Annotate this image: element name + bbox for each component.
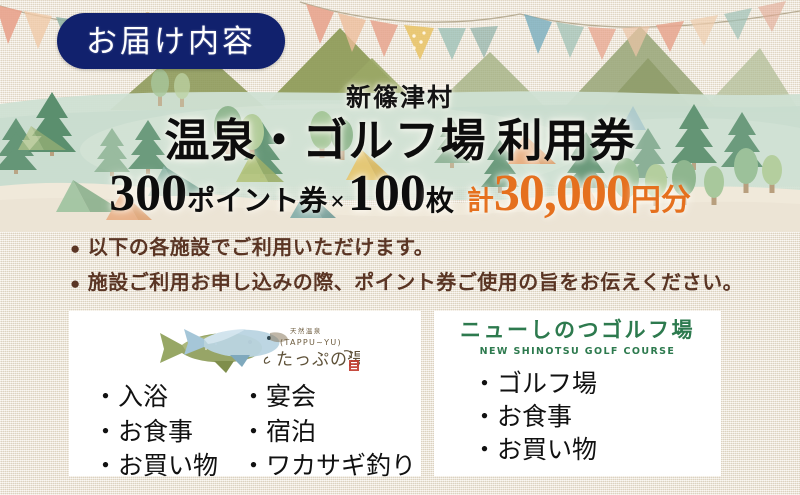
- bullet-icon: ●: [70, 240, 81, 257]
- service-item: ・ワカサギ釣り: [241, 451, 421, 483]
- total-prefix: 計: [467, 186, 494, 216]
- note-item: ● 施設ご利用お申し込みの際、ポイント券ご使用の旨をお伝えください。: [70, 271, 770, 296]
- bullet-icon: ●: [70, 275, 81, 292]
- service-item: ・お食事: [93, 417, 241, 449]
- golf-logo-subtitle: NEW SHINOTSU GOLF COURSE: [434, 346, 721, 357]
- sheets-unit: 枚: [426, 186, 454, 217]
- logo-tagline: 天然温泉: [290, 326, 322, 335]
- service-item: ・宴会: [241, 382, 421, 414]
- title-main: 温泉・ゴルフ場: [164, 116, 486, 166]
- multiply-symbol: ×: [327, 187, 348, 216]
- service-item: ・お買い物: [472, 434, 721, 467]
- note-item: ● 以下の各施設でご利用いただけます。: [70, 236, 770, 261]
- service-item: ・お買い物: [93, 451, 241, 483]
- new-shinotsu-golf-logo: ニューしのつゴルフ場 NEW SHINOTSU GOLF COURSE: [434, 311, 721, 357]
- service-item: ・ゴルフ場: [472, 368, 721, 401]
- village-name: 新篠津村: [0, 86, 800, 111]
- note-text: 施設ご利用お申し込みの際、ポイント券ご使用の旨をお伝えください。: [88, 271, 743, 296]
- pricing-line: 300ポイント券×100枚計30,000円分: [0, 168, 800, 220]
- sheets-value: 100: [348, 165, 426, 222]
- facility-card-onsen: 天然温泉 (TAPPU~YU) たっぷの湯 ・入浴 ・宴会 ・お食事 ・宿泊 ・…: [69, 311, 421, 476]
- coupon-flyer: お届け内容 新篠津村 温泉・ゴルフ場利用券 300ポイント券×100枚計30,0…: [0, 0, 800, 495]
- total-amount: 30,000: [494, 165, 631, 222]
- golf-logo-name: ニューしのつゴルフ場: [434, 319, 721, 342]
- note-text: 以下の各施設でご利用いただけます。: [88, 236, 435, 261]
- badge-label: お届け内容: [86, 26, 256, 57]
- logo-romaji: (TAPPU~YU): [280, 338, 342, 347]
- golf-service-list: ・ゴルフ場 ・お食事 ・お買い物: [434, 368, 721, 467]
- page-title: 温泉・ゴルフ場利用券: [0, 116, 800, 166]
- total-suffix: 円分: [631, 184, 691, 217]
- service-item: ・宿泊: [241, 417, 421, 449]
- points-unit: ポイント券: [187, 186, 327, 217]
- title-sub: 利用券: [498, 116, 636, 166]
- service-item: ・お食事: [472, 401, 721, 434]
- logo-name: たっぷの湯: [276, 350, 360, 370]
- facility-card-golf: ニューしのつゴルフ場 NEW SHINOTSU GOLF COURSE ・ゴルフ…: [434, 311, 721, 476]
- service-item: ・入浴: [93, 382, 241, 414]
- delivery-contents-badge: お届け内容: [57, 13, 285, 69]
- tappu-no-yu-logo: 天然温泉 (TAPPU~YU) たっぷの湯: [69, 315, 421, 375]
- onsen-logo-graphic: 天然温泉 (TAPPU~YU) たっぷの湯: [130, 315, 360, 377]
- onsen-service-list: ・入浴 ・宴会 ・お食事 ・宿泊 ・お買い物 ・ワカサギ釣り: [69, 382, 421, 483]
- points-value: 300: [109, 165, 187, 222]
- usage-notes: ● 以下の各施設でご利用いただけます。 ● 施設ご利用お申し込みの際、ポイント券…: [70, 236, 770, 306]
